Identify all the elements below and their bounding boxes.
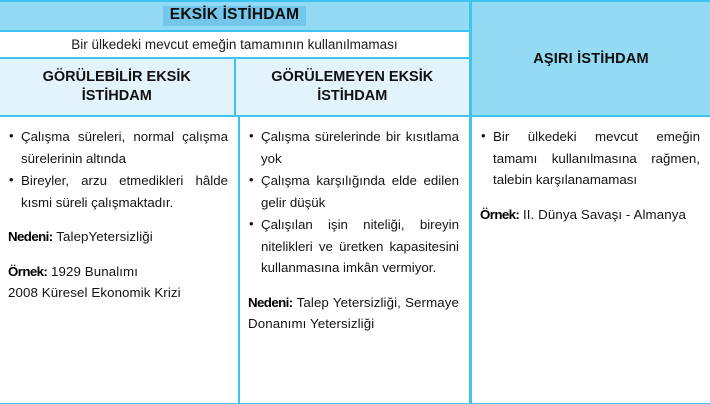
column-gorulemeyen-eksik-istihdam: Çalışma sürelerinde bir kısıtlama yok Ça…: [240, 117, 472, 403]
subheader-label-gorulemeyen: GÖRÜLEMEYEN EKSİK İSTİHDAM: [242, 68, 464, 105]
reason-label: Nedeni:: [8, 229, 53, 244]
subheader-label-gorulebilir: GÖRÜLEBİLİR EKSİK İSTİHDAM: [6, 68, 228, 105]
column-asiri-istihdam: Bir ülkedeki mevcut emeğin tamamı kullan…: [472, 117, 710, 403]
table-title-row: EKSİK İSTİHDAM: [0, 2, 469, 32]
subheader-row: GÖRÜLEBİLİR EKSİK İSTİHDAM GÖRÜLEMEYEN E…: [0, 59, 469, 115]
example-label: Örnek:: [480, 207, 519, 222]
example-value: II. Dünya Savaşı - Almanya: [523, 207, 686, 222]
list-item: Çalışma sürelerinde bir kısıtlama yok: [248, 126, 459, 169]
list-item: Çalışma süreleri, normal çalışma süreler…: [8, 126, 228, 169]
column-gorulebilir-eksik-istihdam: Çalışma süreleri, normal çalışma süreler…: [0, 117, 240, 403]
page-title: EKSİK İSTİHDAM: [163, 6, 306, 25]
table-header-region: EKSİK İSTİHDAM Bir ülkedeki mevcut emeği…: [0, 2, 710, 115]
subheader-cell-gorulebilir: GÖRÜLEBİLİR EKSİK İSTİHDAM: [0, 59, 236, 115]
table-subtitle: Bir ülkedeki mevcut emeğin tamamının kul…: [71, 37, 397, 52]
list-item: Çalışma karşılığında elde edilen gelir d…: [248, 170, 459, 213]
list-item: Çalışılan işin niteliği, bireyin nitelik…: [248, 214, 459, 279]
bullet-list: Çalışma sürelerinde bir kısıtlama yok Ça…: [248, 126, 459, 279]
employment-types-table: EKSİK İSTİHDAM Bir ülkedeki mevcut emeği…: [0, 0, 710, 404]
asiri-istihdam-header-label: AŞIRI İSTİHDAM: [533, 51, 649, 67]
example-value: 1929 Bunalımı: [51, 264, 138, 279]
reason-block: Nedeni: TalepYetersizliği: [8, 226, 228, 248]
example-value-line2: 2008 Küresel Ekonomik Krizi: [8, 282, 228, 304]
subheader-cell-gorulemeyen: GÖRÜLEMEYEN EKSİK İSTİHDAM: [236, 59, 470, 115]
asiri-istihdam-header-cell: AŞIRI İSTİHDAM: [472, 2, 710, 115]
list-item: Bir ülkedeki mevcut emeğin tamamı kullan…: [480, 126, 700, 191]
reason-label: Nedeni:: [248, 295, 293, 310]
eksik-istihdam-header-group: EKSİK İSTİHDAM Bir ülkedeki mevcut emeği…: [0, 2, 472, 115]
table-body-region: Çalışma süreleri, normal çalışma süreler…: [0, 115, 710, 403]
bullet-list: Çalışma süreleri, normal çalışma süreler…: [8, 126, 228, 213]
table-subtitle-row: Bir ülkedeki mevcut emeğin tamamının kul…: [0, 32, 469, 59]
example-block: Örnek: 1929 Bunalımı 2008 Küresel Ekonom…: [8, 261, 228, 304]
bullet-list: Bir ülkedeki mevcut emeğin tamamı kullan…: [480, 126, 700, 191]
example-label: Örnek:: [8, 264, 47, 279]
list-item: Bireyler, arzu etmedikleri hâlde kısmi s…: [8, 170, 228, 213]
example-block: Örnek: II. Dünya Savaşı - Almanya: [480, 204, 700, 226]
reason-block: Nedeni: Talep Yetersizliği, Sermaye Dona…: [248, 292, 459, 335]
reason-value: TalepYetersizliği: [56, 229, 153, 244]
